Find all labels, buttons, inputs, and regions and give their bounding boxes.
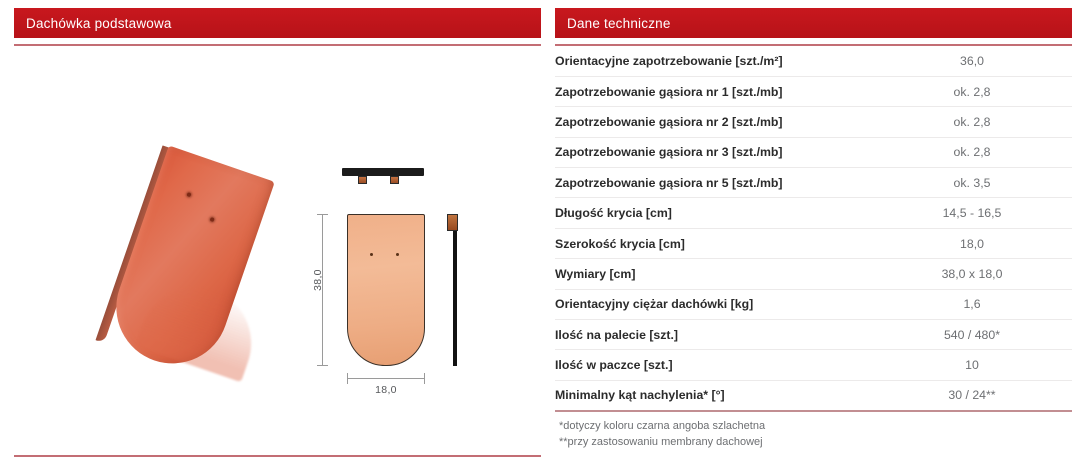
product-spec-page: Dachówka podstawowa [0, 0, 1072, 458]
spec-row: Zapotrzebowanie gąsiora nr 5 [szt./mb]ok… [555, 168, 1072, 198]
spec-row-value: 14,5 - 16,5 [872, 198, 1072, 228]
nail-hole-icon [210, 217, 215, 222]
spec-row-value: 18,0 [872, 228, 1072, 258]
tech-data-panel-title: Dane techniczne [567, 16, 671, 31]
spec-row-value: ok. 2,8 [872, 76, 1072, 106]
spec-row: Szerokość krycia [cm]18,0 [555, 228, 1072, 258]
spec-row-label: Szerokość krycia [cm] [555, 228, 872, 258]
spec-row: Orientacyjne zapotrzebowanie [szt./m²]36… [555, 46, 1072, 76]
width-dimension-cap [424, 373, 425, 384]
side-view-nib-icon [447, 214, 458, 231]
height-dimension-label: 38,0 [312, 257, 324, 303]
tech-data-panel: Dane techniczne Orientacyjne zapotrzebow… [555, 0, 1072, 458]
product-image-panel: Dachówka podstawowa [14, 0, 541, 458]
drawing-front-view [347, 214, 425, 366]
footnote-text: **przy zastosowaniu membrany dachowej [559, 434, 1072, 450]
drawing-top-view [342, 168, 424, 176]
spec-row: Zapotrzebowanie gąsiora nr 3 [szt./mb]ok… [555, 137, 1072, 167]
width-dimension-cap [347, 373, 348, 384]
spec-row-label: Zapotrzebowanie gąsiora nr 5 [szt./mb] [555, 168, 872, 198]
tile-nib-icon [390, 176, 399, 184]
spec-row-label: Długość krycia [cm] [555, 198, 872, 228]
footnote-text: *dotyczy koloru czarna angoba szlachetna [559, 418, 1072, 434]
spec-row-label: Ilość w paczce [szt.] [555, 350, 872, 380]
spec-row-value: 1,6 [872, 289, 1072, 319]
product-panel-header: Dachówka podstawowa [14, 8, 541, 38]
product-visual-area: 38,0 18,0 [14, 46, 541, 406]
technical-drawing: 38,0 18,0 [304, 156, 494, 416]
nail-hole-icon [396, 253, 399, 256]
spec-row-value: 10 [872, 350, 1072, 380]
specifications-table: Orientacyjne zapotrzebowanie [szt./m²]36… [555, 46, 1072, 412]
spec-row-value: 38,0 x 18,0 [872, 259, 1072, 289]
spec-row-label: Zapotrzebowanie gąsiora nr 2 [szt./mb] [555, 107, 872, 137]
spec-row: Wymiary [cm]38,0 x 18,0 [555, 259, 1072, 289]
spec-row: Orientacyjny ciężar dachówki [kg]1,6 [555, 289, 1072, 319]
tile-nib-icon [358, 176, 367, 184]
spec-row-value: 540 / 480* [872, 320, 1072, 350]
height-dimension-cap [317, 214, 328, 215]
spec-row-label: Orientacyjne zapotrzebowanie [szt./m²] [555, 46, 872, 76]
spec-row-label: Zapotrzebowanie gąsiora nr 3 [szt./mb] [555, 137, 872, 167]
product-panel-title: Dachówka podstawowa [26, 16, 172, 31]
spec-row: Zapotrzebowanie gąsiora nr 2 [szt./mb]ok… [555, 107, 1072, 137]
drawing-side-view [453, 214, 457, 366]
footnotes: *dotyczy koloru czarna angoba szlachetna… [555, 412, 1072, 450]
nail-hole-icon [186, 192, 191, 197]
spec-row-value: 30 / 24** [872, 380, 1072, 410]
spec-row-label: Orientacyjny ciężar dachówki [kg] [555, 289, 872, 319]
spec-row-value: ok. 3,5 [872, 168, 1072, 198]
nail-hole-icon [370, 253, 373, 256]
spec-row: Minimalny kąt nachylenia* [°]30 / 24** [555, 380, 1072, 410]
spec-row: Ilość na palecie [szt.]540 / 480* [555, 320, 1072, 350]
spec-row-label: Minimalny kąt nachylenia* [°] [555, 380, 872, 410]
spec-row: Zapotrzebowanie gąsiora nr 1 [szt./mb]ok… [555, 76, 1072, 106]
spec-row-label: Wymiary [cm] [555, 259, 872, 289]
tech-data-panel-header: Dane techniczne [555, 8, 1072, 38]
spec-row-label: Ilość na palecie [szt.] [555, 320, 872, 350]
width-dimension-label: 18,0 [347, 384, 425, 396]
spec-row: Długość krycia [cm]14,5 - 16,5 [555, 198, 1072, 228]
product-photo [110, 150, 300, 420]
spec-row-value: ok. 2,8 [872, 107, 1072, 137]
product-panel-bottom-divider [14, 455, 541, 457]
width-dimension-line [347, 378, 425, 379]
spec-row-value: ok. 2,8 [872, 137, 1072, 167]
tech-data-header-divider [555, 44, 1072, 46]
spec-row-value: 36,0 [872, 46, 1072, 76]
spec-row-label: Zapotrzebowanie gąsiora nr 1 [szt./mb] [555, 76, 872, 106]
height-dimension-cap [317, 365, 328, 366]
specifications-table-body: Orientacyjne zapotrzebowanie [szt./m²]36… [555, 46, 1072, 411]
spec-row: Ilość w paczce [szt.]10 [555, 350, 1072, 380]
